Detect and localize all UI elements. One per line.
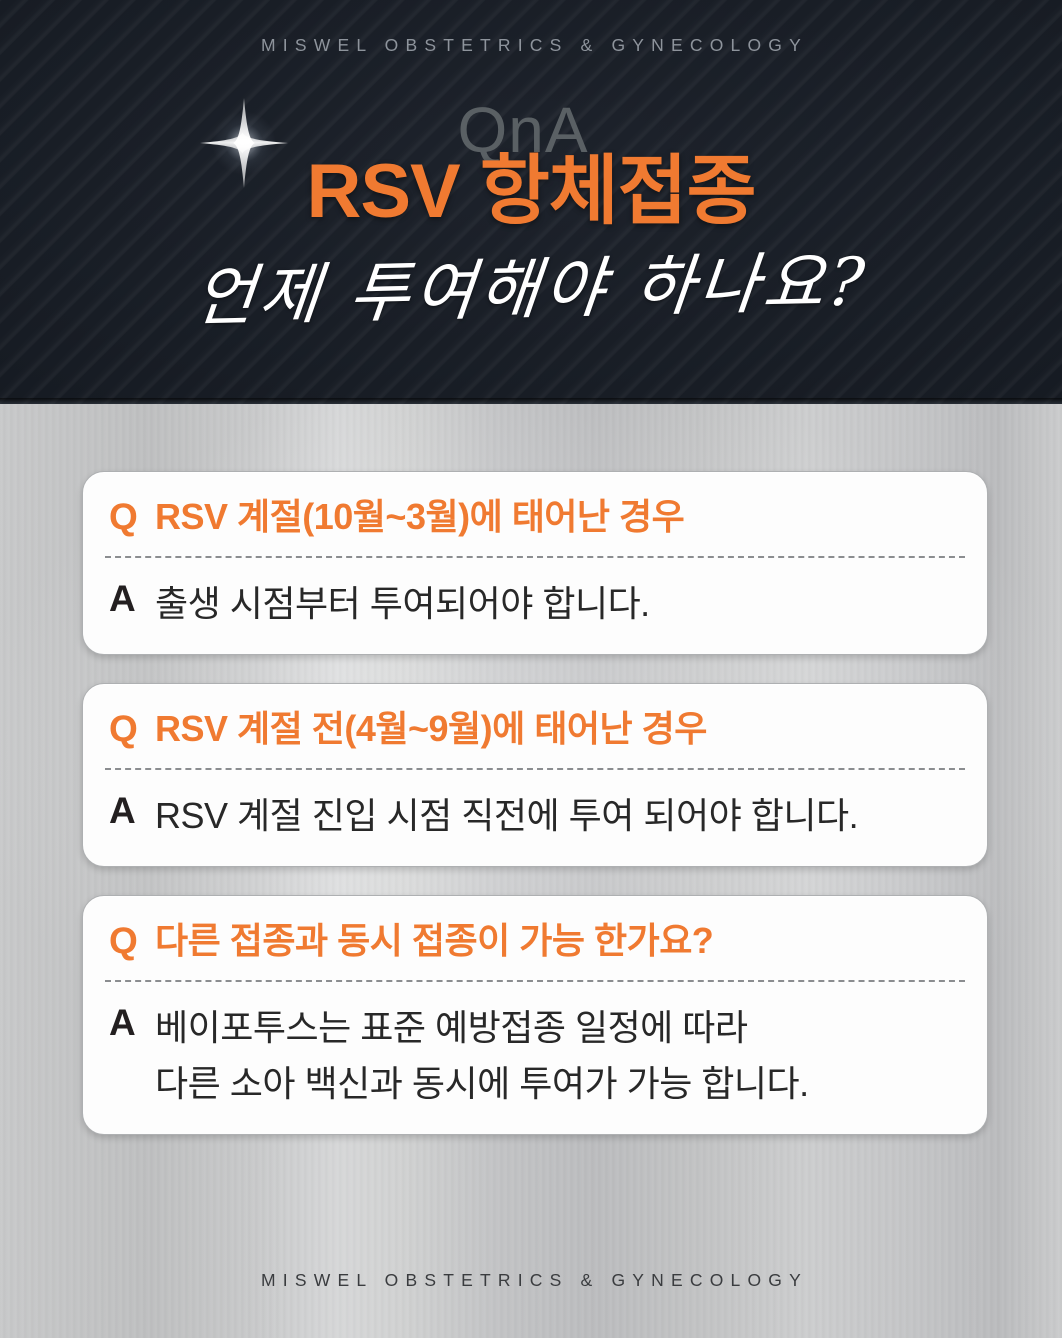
question-row: Q 다른 접종과 동시 접종이 가능 한가요? — [109, 896, 961, 980]
question-text: RSV 계절(10월~3월)에 태어난 경우 — [155, 494, 684, 540]
question-row: Q RSV 계절 전(4월~9월)에 태어난 경우 — [109, 684, 961, 768]
answer-row: A 출생 시점부터 투여되어야 합니다. — [109, 558, 961, 654]
answer-line: 베이포투스는 표준 예방접종 일정에 따라 — [155, 1000, 809, 1056]
answer-marker: A — [109, 576, 155, 622]
question-text: RSV 계절 전(4월~9월)에 태어난 경우 — [155, 706, 707, 752]
page-title: RSV 항체접종 — [0, 152, 1062, 232]
question-marker: Q — [109, 494, 155, 540]
title-block: QnA RSV 항체접종 언제 투여해야 하나요? — [0, 0, 1062, 404]
brand-wordmark-bottom: MISWEL OBSTETRICS & GYNECOLOGY — [0, 1270, 1062, 1291]
header-banner: MISWEL OBSTETRICS & GYNECOLOGY — [0, 0, 1062, 404]
poster-root: MISWEL OBSTETRICS & GYNECOLOGY — [0, 0, 1062, 1338]
qa-card: Q RSV 계절 전(4월~9월)에 태어난 경우 A RSV 계절 진입 시점… — [82, 683, 988, 867]
page-subtitle: 언제 투여해야 하나요? — [0, 236, 1062, 344]
answer-marker: A — [109, 788, 155, 834]
answer-marker: A — [109, 1000, 155, 1046]
question-marker: Q — [109, 706, 155, 752]
answer-line: 출생 시점부터 투여되어야 합니다. — [155, 576, 650, 632]
answer-line: 다른 소아 백신과 동시에 투여가 가능 합니다. — [155, 1056, 809, 1112]
answer-text: 출생 시점부터 투여되어야 합니다. — [155, 576, 650, 632]
answer-text: RSV 계절 진입 시점 직전에 투여 되어야 합니다. — [155, 788, 858, 844]
qa-card: Q 다른 접종과 동시 접종이 가능 한가요? A 베이포투스는 표준 예방접종… — [82, 895, 988, 1135]
answer-row: A 베이포투스는 표준 예방접종 일정에 따라 다른 소아 백신과 동시에 투여… — [109, 982, 961, 1134]
qa-card-list: Q RSV 계절(10월~3월)에 태어난 경우 A 출생 시점부터 투여되어야… — [82, 471, 988, 1135]
question-marker: Q — [109, 918, 155, 964]
question-text: 다른 접종과 동시 접종이 가능 한가요? — [155, 918, 713, 964]
answer-row: A RSV 계절 진입 시점 직전에 투여 되어야 합니다. — [109, 770, 961, 866]
qa-card: Q RSV 계절(10월~3월)에 태어난 경우 A 출생 시점부터 투여되어야… — [82, 471, 988, 655]
question-row: Q RSV 계절(10월~3월)에 태어난 경우 — [109, 472, 961, 556]
answer-text: 베이포투스는 표준 예방접종 일정에 따라 다른 소아 백신과 동시에 투여가 … — [155, 1000, 809, 1112]
answer-line: RSV 계절 진입 시점 직전에 투여 되어야 합니다. — [155, 788, 858, 844]
